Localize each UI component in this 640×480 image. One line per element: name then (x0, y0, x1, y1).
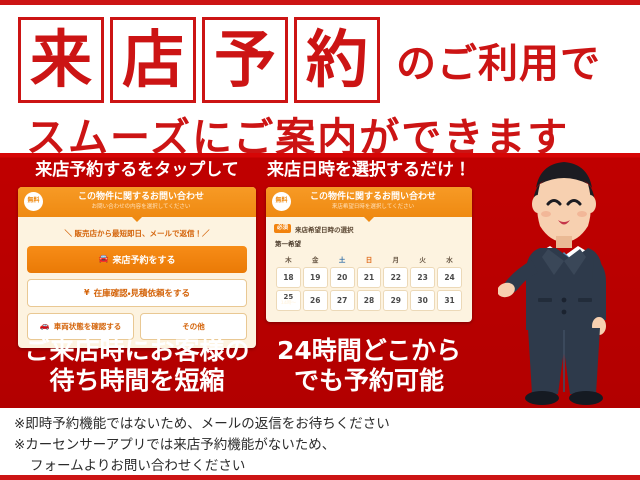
calendar-day-cell[interactable]: 18 (276, 267, 301, 288)
calendar-section-text: 来店希望日時の選択 (295, 224, 354, 234)
feature-left-caption: 来店予約するをタップして (18, 161, 256, 180)
phone-mock-calendar: 無料 この物件に関するお問い合わせ 来店希望日時を選択してください 必須 来店希… (266, 187, 472, 322)
yen-icon: ¥ (84, 289, 90, 297)
header-notch (131, 216, 143, 222)
inquiry-header-title: この物件に関するお問い合わせ (48, 192, 234, 203)
benefit-text-right: 24時間どこから でも予約可能 (262, 336, 476, 395)
free-badge-icon: 無料 (272, 192, 291, 211)
benefit-text-left: ご来店時にお客様の 待ち時間を短縮 (14, 336, 260, 395)
reserve-visit-button[interactable]: 🚘 来店予約をする (27, 246, 247, 273)
calendar-week-row: 25 14時～ 26 27 28 29 30 31 (276, 290, 462, 311)
businessman-illustration-icon (498, 148, 630, 410)
calendar-header-text: この物件に関するお問い合わせ 来店希望日時を選択してください (296, 192, 466, 211)
selected-day-time: 14時～ (278, 302, 299, 307)
calendar-day-cell[interactable]: 28 (357, 290, 382, 311)
kanji-box-3: 予 (202, 17, 288, 103)
calendar-header-title: この物件に関するお問い合わせ (296, 192, 450, 203)
stock-quote-button-label: 在庫確認・見積依頼をする (94, 287, 190, 299)
calendar-day-cell[interactable]: 26 (303, 290, 328, 311)
calendar-day-cell[interactable]: 19 (303, 267, 328, 288)
inquiry-header-text: この物件に関するお問い合わせ お問い合わせの内容を選択してください (48, 192, 250, 211)
header-notch (363, 216, 375, 222)
visit-reservation-banner: 来 店 予 約 のご利用で スムーズにご案内ができます 来店予約するをタップして… (0, 0, 640, 480)
inquiry-header-subtitle: お問い合わせの内容を選択してください (48, 204, 234, 211)
weekday-header: 金 (303, 253, 328, 265)
calendar-day-cell[interactable]: 20 (330, 267, 355, 288)
reserve-visit-button-label: 来店予約をする (112, 253, 175, 266)
kanji-box-2: 店 (110, 17, 196, 103)
calendar-day-cell[interactable]: 23 (410, 267, 435, 288)
phone-mock-inquiry: 無料 この物件に関するお問い合わせ お問い合わせの内容を選択してください ＼ 販… (18, 187, 256, 348)
bottom-accent-bar (0, 475, 640, 480)
kanji-box-4: 約 (294, 17, 380, 103)
calendar-header: 無料 この物件に関するお問い合わせ 来店希望日時を選択してください (266, 187, 472, 217)
weekday-header: 土 (330, 253, 355, 265)
car-icon: 🚘 (99, 255, 109, 263)
headline-section: 来 店 予 約 のご利用で スムーズにご案内ができます (0, 5, 640, 153)
first-preference-label: 第一希望 (275, 238, 464, 248)
stock-quote-button[interactable]: ¥ 在庫確認・見積依頼をする (27, 279, 247, 307)
footer-note-3: フォームよりお問い合わせください (30, 456, 245, 477)
feature-right-caption: 来店日時を選択するだけ！ (266, 161, 472, 180)
benefit-left-line1: ご来店時にお客様の (14, 336, 260, 366)
calendar-section-label: 必須 来店希望日時の選択 (274, 224, 464, 234)
weekday-header: 木 (276, 253, 301, 265)
headline-kanji-row: 来 店 予 約 のご利用で (18, 17, 601, 103)
calendar-day-cell-unavailable: 22 (383, 267, 408, 288)
benefit-right-line1: 24時間どこから (262, 336, 476, 366)
calendar-weekday-row: 木 金 土 日 月 火 水 (276, 253, 462, 265)
calendar-day-cell[interactable]: 30 (410, 290, 435, 311)
feature-column-right: 来店日時を選択するだけ！ 無料 この物件に関するお問い合わせ 来店希望日時を選択… (266, 161, 472, 322)
required-chip: 必須 (274, 224, 291, 234)
weekday-header: 月 (383, 253, 408, 265)
check-vehicle-condition-label: 車両状態を確認する (54, 321, 122, 332)
benefit-left-line2: 待ち時間を短縮 (14, 366, 260, 396)
weekday-header: 火 (410, 253, 435, 265)
calendar-body: 必須 来店希望日時の選択 第一希望 木 金 土 日 月 火 (266, 217, 472, 322)
feature-column-left: 来店予約するをタップして 無料 この物件に関するお問い合わせ お問い合わせの内容… (18, 161, 256, 348)
car-status-icon: 🚗 (40, 322, 50, 330)
inquiry-lead-text: ＼ 販売店から最短即日、メールで返信！／ (27, 228, 247, 239)
headline-tail-text: のご利用で (396, 31, 601, 89)
selected-day-number: 25 (278, 294, 299, 301)
calendar-day-cell[interactable]: 31 (437, 290, 462, 311)
benefit-right-line2: でも予約可能 (262, 366, 476, 396)
calendar-day-cell[interactable]: 21 (357, 267, 382, 288)
footer-note-2: ※カーセンサーアプリでは来店予約機能がないため、 (14, 435, 335, 456)
date-picker-calendar[interactable]: 木 金 土 日 月 火 水 18 (274, 251, 464, 313)
calendar-day-cell-selected[interactable]: 25 14時～ (276, 290, 301, 311)
weekday-header: 日 (357, 253, 382, 265)
weekday-header: 水 (437, 253, 462, 265)
footer-note-1: ※即時予約機能ではないため、メールの返信をお待ちください (14, 414, 390, 435)
calendar-header-subtitle: 来店希望日時を選択してください (296, 204, 450, 211)
calendar-day-cell[interactable]: 24 (437, 267, 462, 288)
free-badge-icon: 無料 (24, 192, 43, 211)
calendar-week-row: 18 19 20 21 22 23 24 (276, 267, 462, 288)
kanji-box-1: 来 (18, 17, 104, 103)
inquiry-header: 無料 この物件に関するお問い合わせ お問い合わせの内容を選択してください (18, 187, 256, 217)
calendar-day-cell[interactable]: 27 (330, 290, 355, 311)
calendar-day-cell-unavailable: 29 (383, 290, 408, 311)
inquiry-body: ＼ 販売店から最短即日、メールで返信！／ 🚘 来店予約をする ¥ 在庫確認・見積… (18, 217, 256, 348)
footer-notes-section: ※即時予約機能ではないため、メールの返信をお待ちください ※カーセンサーアプリで… (0, 408, 640, 475)
other-option-label: その他 (182, 321, 205, 332)
